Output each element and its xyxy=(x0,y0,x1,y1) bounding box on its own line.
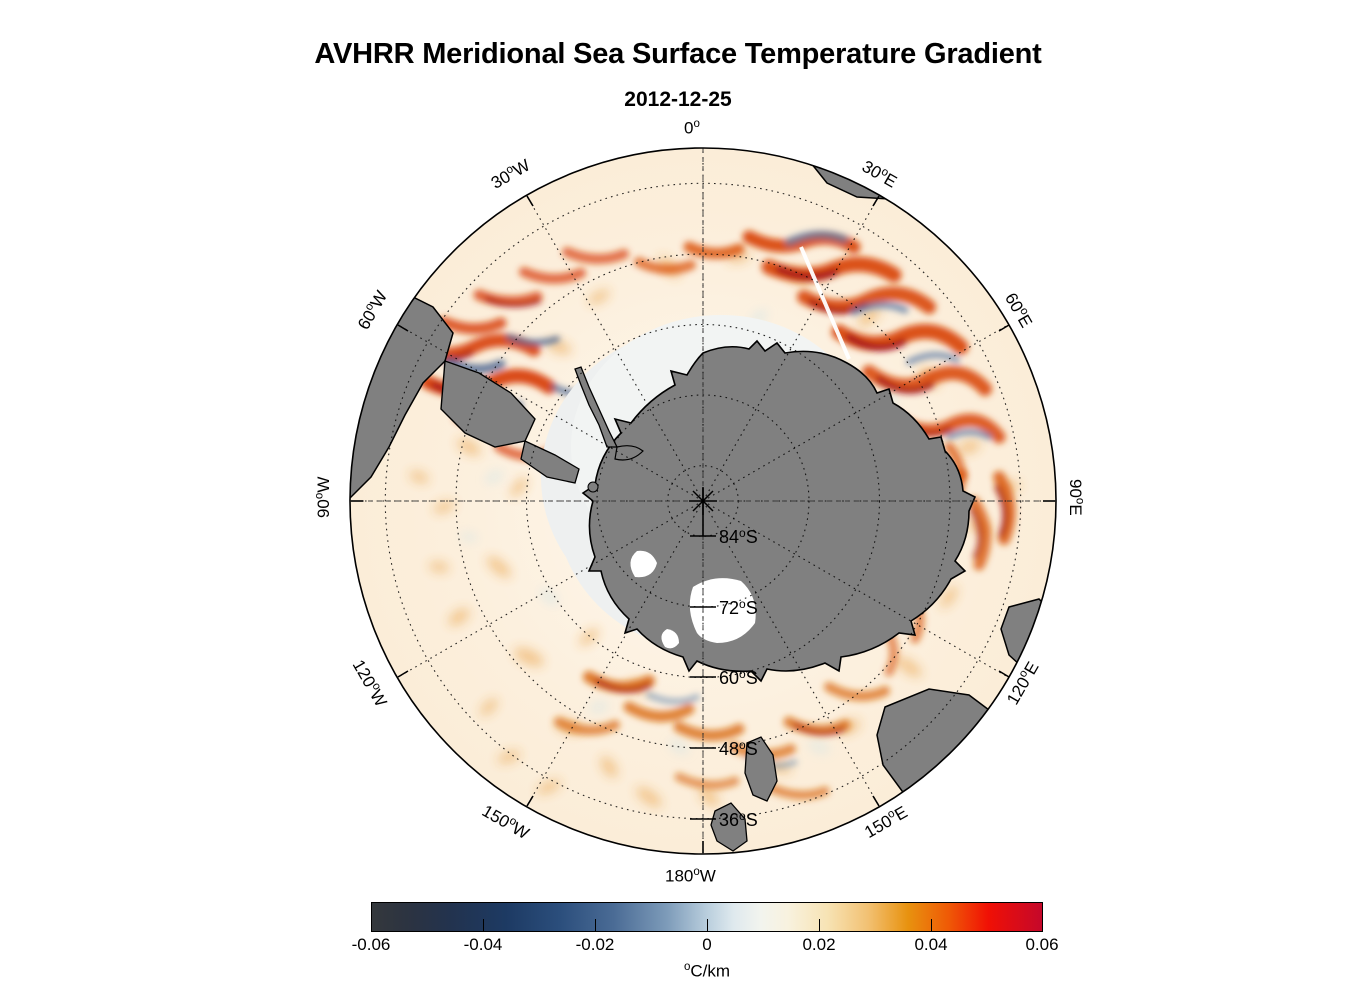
lon-label-180W: 180oW xyxy=(665,866,716,887)
colorbar-tick-label: 0 xyxy=(702,935,711,955)
colorbar-tick-label: -0.04 xyxy=(464,935,503,955)
colorbar-tick xyxy=(371,919,372,932)
colorbar-tick xyxy=(819,919,820,932)
lon-label-0: 0o xyxy=(684,118,700,139)
lat-label-48S: 48oS xyxy=(719,738,758,759)
lon-label-90E: 90oE xyxy=(1065,479,1086,516)
polar-map: 84oS 72oS 60oS 48oS 36oS xyxy=(349,147,1057,855)
colorbar-tick xyxy=(1042,919,1043,932)
colorbar-tick xyxy=(707,919,708,932)
lat-label-36S: 36oS xyxy=(719,809,758,830)
colorbar-tick xyxy=(483,919,484,932)
colorbar-tick xyxy=(931,919,932,932)
lat-label-72S: 72oS xyxy=(719,597,758,618)
figure-root: AVHRR Meridional Sea Surface Temperature… xyxy=(0,0,1356,1000)
page-title: AVHRR Meridional Sea Surface Temperature… xyxy=(0,38,1356,71)
colorbar-unit-label: oC/km xyxy=(371,961,1043,982)
figure-subtitle: 2012-12-25 xyxy=(0,88,1356,112)
lon-label-90W: 90oW xyxy=(313,477,334,518)
colorbar-tick-label: 0.02 xyxy=(802,935,835,955)
colorbar-tick xyxy=(595,919,596,932)
colorbar-tick-label: 0.06 xyxy=(1025,935,1058,955)
map-canvas: 84oS 72oS 60oS 48oS 36oS xyxy=(349,147,1057,855)
colorbar: -0.06 -0.04 -0.02 0 0.02 0.04 0.06 oC/km xyxy=(371,902,1043,932)
lat-label-60S: 60oS xyxy=(719,667,758,688)
colorbar-tick-label: -0.02 xyxy=(576,935,615,955)
colorbar-tick-label: -0.06 xyxy=(352,935,391,955)
lat-label-84S: 84oS xyxy=(719,526,758,547)
colorbar-tick-label: 0.04 xyxy=(914,935,947,955)
